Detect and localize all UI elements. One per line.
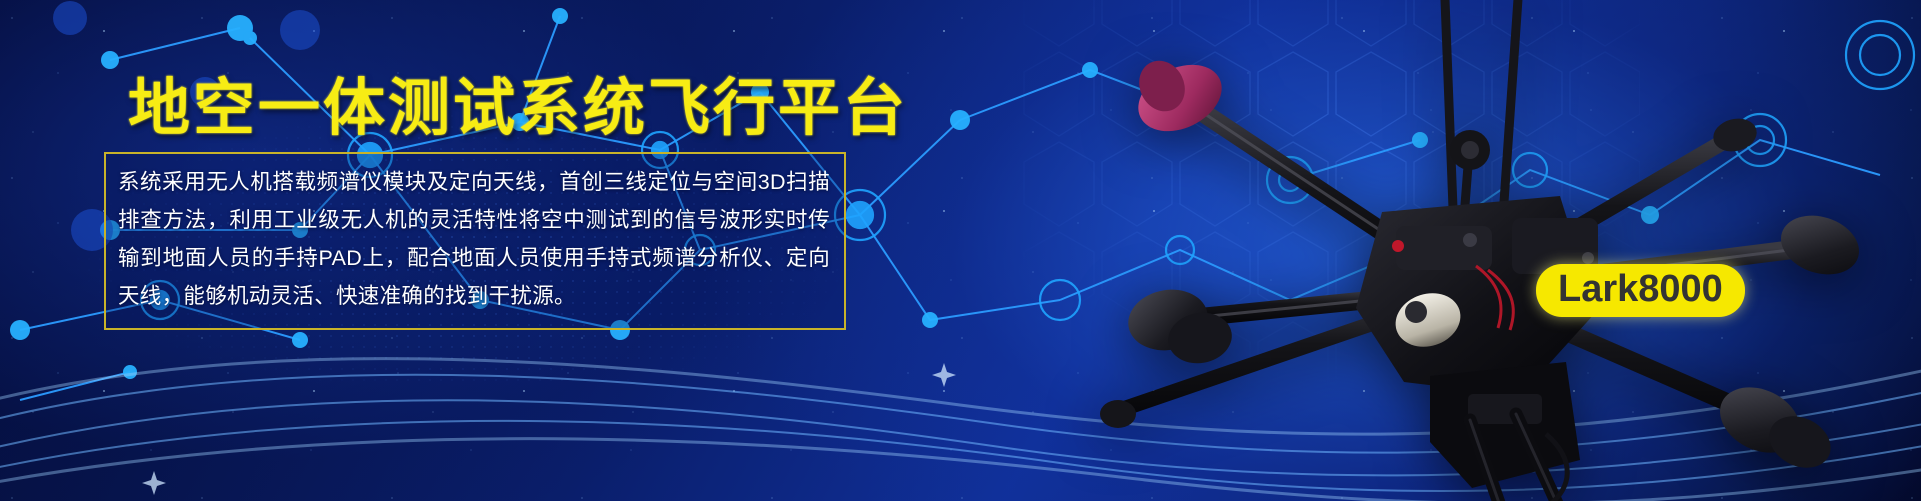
description-box: 系统采用无人机搭载频谱仪模块及定向天线，首创三线定位与空间3D扫描排查方法，利用… — [104, 152, 846, 330]
product-badge: Lark8000 — [1536, 264, 1745, 317]
page-title: 地空一体测试系统飞行平台 — [128, 78, 908, 140]
product-banner: 地空一体测试系统飞行平台 系统采用无人机搭载频谱仪模块及定向天线，首创三线定位与… — [0, 0, 1921, 501]
description-text: 系统采用无人机搭载频谱仪模块及定向天线，首创三线定位与空间3D扫描排查方法，利用… — [118, 163, 830, 315]
hexacopter-drone-photo — [1000, 0, 1921, 501]
